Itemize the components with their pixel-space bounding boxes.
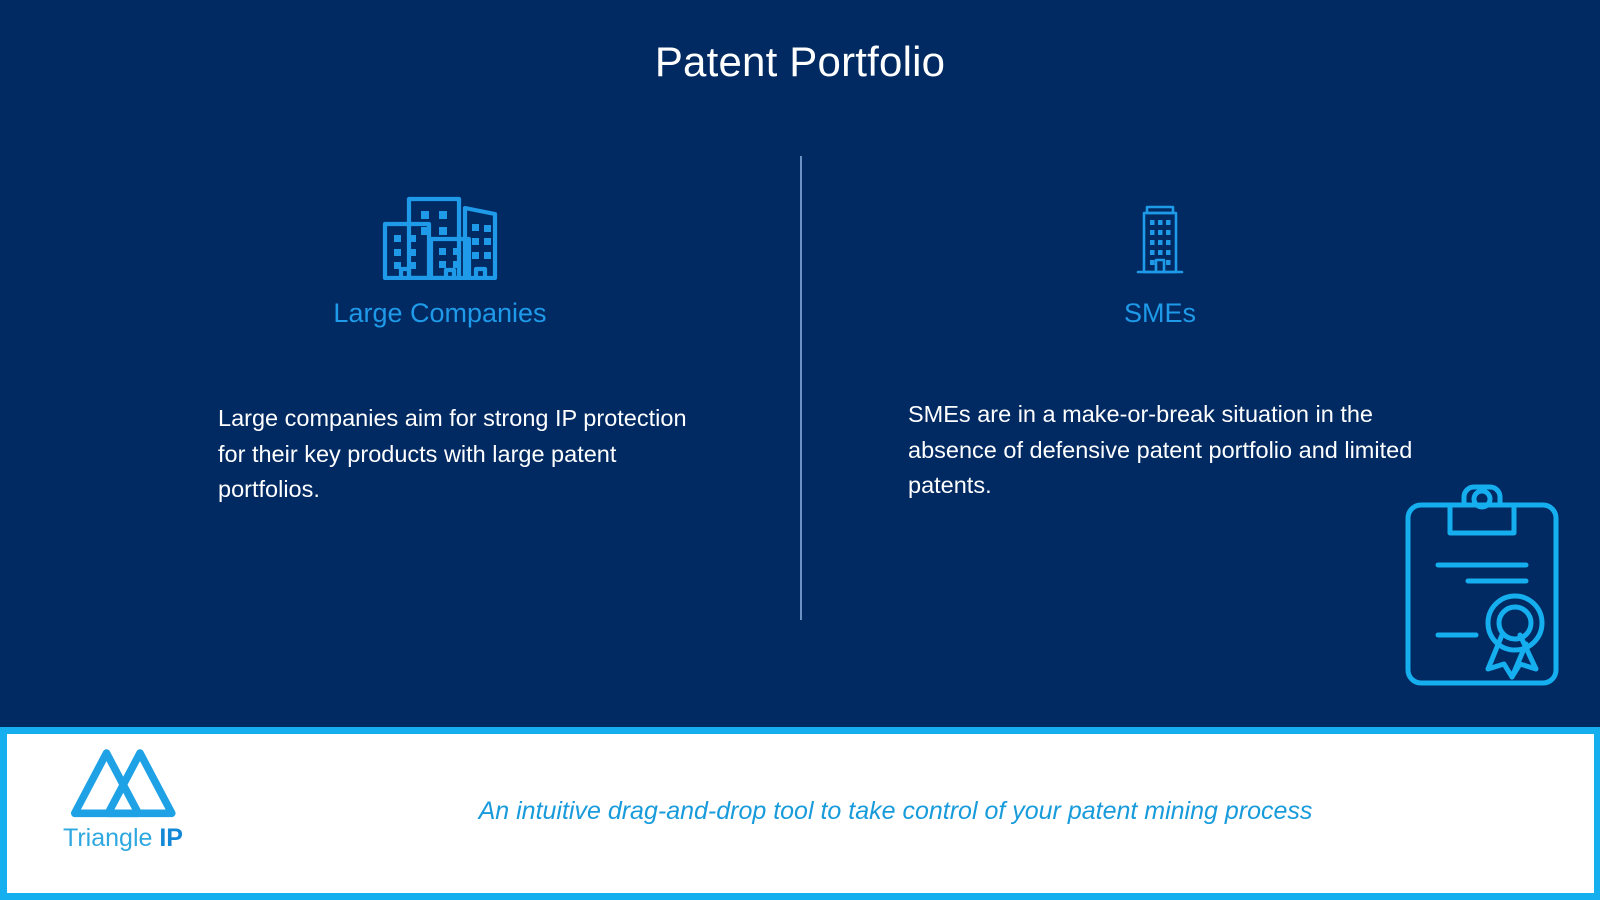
footer-inner: Triangle IP An intuitive drag-and-drop t… [7, 734, 1594, 893]
brand-logo[interactable]: Triangle IP [33, 748, 213, 853]
slide-canvas: Patent Portfolio [0, 0, 1600, 900]
column-heading-large-companies: Large Companies [120, 298, 760, 329]
column-large-companies: Large Companies Large companies aim for … [120, 170, 760, 508]
brand-name-bold: IP [159, 824, 183, 852]
column-smes: SMEs SMEs are in a make-or-break situati… [840, 170, 1480, 504]
footer-band: Triangle IP An intuitive drag-and-drop t… [0, 727, 1600, 900]
column-divider [800, 156, 802, 620]
footer-tagline: An intuitive drag-and-drop tool to take … [227, 797, 1564, 826]
brand-name-light: Triangle [63, 824, 159, 852]
page-title: Patent Portfolio [0, 38, 1600, 86]
clipboard-certificate-icon [1398, 483, 1566, 693]
column-body-smes: SMEs are in a make-or-break situation in… [908, 397, 1428, 504]
column-body-large-companies: Large companies aim for strong IP protec… [218, 401, 688, 508]
column-heading-smes: SMEs [840, 298, 1480, 329]
office-buildings-icon [120, 170, 760, 280]
triangle-ip-logo-icon [68, 748, 179, 820]
brand-logo-text: Triangle IP [33, 824, 213, 853]
single-building-icon [840, 170, 1480, 278]
